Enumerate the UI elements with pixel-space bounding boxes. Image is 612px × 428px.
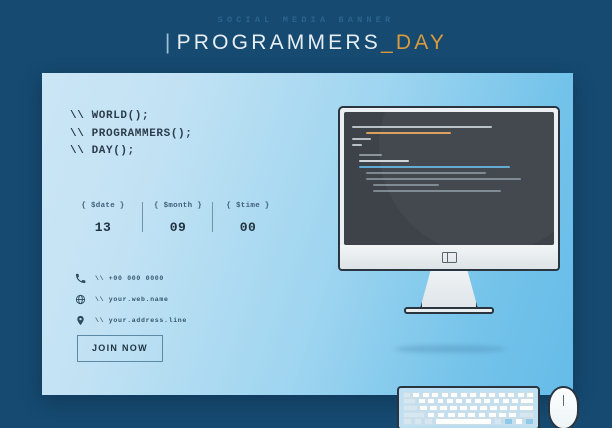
date-label: { $time } xyxy=(222,201,274,212)
banner-card: \\ WORLD(); \\ PROGRAMMERS(); \\ DAY(); … xyxy=(42,73,573,395)
date-label: { $month } xyxy=(152,201,204,212)
date-value: 13 xyxy=(72,220,134,235)
code-text-line: \\ DAY(); xyxy=(70,143,192,161)
page-title: |PROGRAMMERS_DAY xyxy=(0,31,612,55)
globe-icon xyxy=(74,293,87,306)
date-block: { $date } 13 { $month } 09 { $time } 00 xyxy=(72,201,274,235)
header-subtitle: SOCIAL MEDIA BANNER xyxy=(0,14,612,26)
mouse[interactable] xyxy=(548,386,579,428)
title-main: PROGRAMMERS xyxy=(177,31,381,54)
date-value: 09 xyxy=(152,220,204,235)
monitor-shadow xyxy=(394,345,506,353)
monitor-screen-frame xyxy=(338,106,560,245)
mouse-wheel xyxy=(563,395,565,406)
phone-icon xyxy=(74,272,87,285)
code-text-line: \\ PROGRAMMERS(); xyxy=(70,126,192,144)
contact-text: \\ your.address.line xyxy=(95,317,187,324)
contact-text: \\ your.web.name xyxy=(95,296,169,303)
contact-row-address: \\ your.address.line xyxy=(74,312,187,328)
header: SOCIAL MEDIA BANNER |PROGRAMMERS_DAY xyxy=(0,14,612,55)
join-now-button[interactable]: JOIN NOW xyxy=(77,335,163,362)
keyboard-row xyxy=(403,418,534,424)
screen-code-pane xyxy=(352,126,546,196)
contact-text: \\ +00 000 0000 xyxy=(95,275,164,282)
code-text-block: \\ WORLD(); \\ PROGRAMMERS(); \\ DAY(); xyxy=(70,108,192,161)
code-text-line: \\ WORLD(); xyxy=(70,108,192,126)
date-label: { $date } xyxy=(72,201,134,212)
contact-row-web: \\ your.web.name xyxy=(74,291,187,307)
contact-row-phone: \\ +00 000 0000 xyxy=(74,270,187,286)
keyboard-row xyxy=(403,398,534,404)
window-logo-icon xyxy=(442,252,457,263)
keyboard-row xyxy=(403,405,534,411)
monitor-stand xyxy=(420,271,478,309)
date-cell-month: { $month } 09 xyxy=(142,201,204,235)
date-cell-date: { $date } 13 xyxy=(72,201,134,235)
monitor-bezel xyxy=(338,245,560,271)
title-accent: _DAY xyxy=(381,31,447,54)
date-cell-time: { $time } 00 xyxy=(212,201,274,235)
contact-list: \\ +00 000 0000 \\ your.web.name \\ your… xyxy=(74,270,187,333)
pin-icon xyxy=(74,314,87,327)
banner-stage: SOCIAL MEDIA BANNER |PROGRAMMERS_DAY \\ … xyxy=(0,0,612,428)
keyboard-row xyxy=(403,392,534,398)
monitor-screen xyxy=(344,112,554,245)
date-value: 00 xyxy=(222,220,274,235)
title-bar-glyph: | xyxy=(165,31,174,54)
keyboard-row xyxy=(403,412,534,418)
keyboard[interactable] xyxy=(397,386,540,428)
monitor xyxy=(338,106,560,314)
